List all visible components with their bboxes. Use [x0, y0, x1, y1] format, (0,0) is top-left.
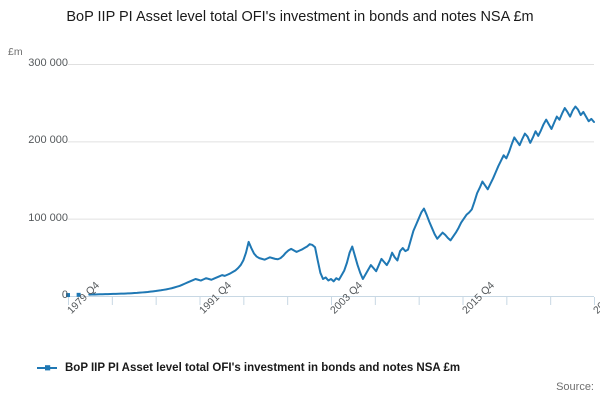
chart-legend[interactable]: BoP IIP PI Asset level total OFI's inves…: [36, 362, 460, 374]
source-note: Source:: [556, 381, 594, 393]
line-marker-icon: [36, 362, 58, 374]
gridlines: [68, 65, 594, 220]
legend-label: BoP IIP PI Asset level total OFI's inves…: [65, 362, 460, 374]
y-axis-tick-label: 0: [62, 289, 68, 301]
plot-area: [0, 0, 600, 400]
y-axis-tick-label: 200 000: [28, 134, 68, 146]
y-axis-tick-label: 300 000: [28, 57, 68, 69]
chart-container: BoP IIP PI Asset level total OFI's inves…: [0, 0, 600, 400]
data-series-line: [89, 107, 594, 295]
y-axis-tick-label: 100 000: [28, 212, 68, 224]
chart-svg: [0, 0, 600, 400]
